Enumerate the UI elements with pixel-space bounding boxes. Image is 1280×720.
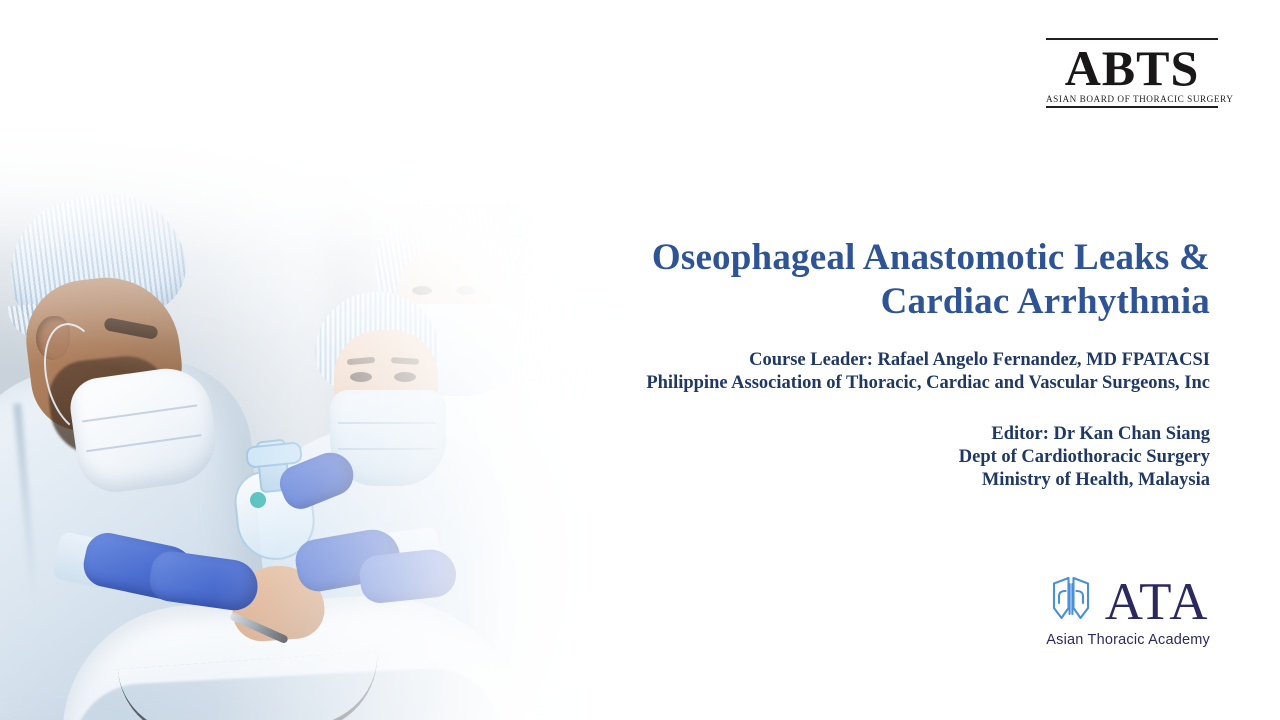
abts-logo: ABTS ASIAN BOARD OF THORACIC SURGERY [1046,38,1218,108]
page-title: Oseophageal Anastomotic Leaks & Cardiac … [562,236,1210,324]
surgeon-back-eye-right [456,286,476,295]
course-leader-affiliation: Philippine Association of Thoracic, Card… [562,372,1210,395]
abts-tagline: ASIAN BOARD OF THORACIC SURGERY [1046,93,1218,106]
nurse-eye-right [394,372,416,382]
course-leader-name: Course Leader: Rafael Angelo Fernandez, … [562,349,1210,372]
nurse-eye-left [350,372,372,382]
title-line-1: Oseophageal Anastomotic Leaks & [652,237,1210,278]
abts-rule-bottom [1046,106,1218,108]
editor-block: Editor: Dr Kan Chan Siang Dept of Cardio… [562,423,1210,492]
ata-wordmark: ATA [1105,575,1210,630]
anaesthesia-connector [250,492,266,508]
ata-logo-row: ATA [1047,574,1210,631]
title-slide: ABTS ASIAN BOARD OF THORACIC SURGERY Ose… [0,0,1280,720]
editor-department: Dept of Cardiothoracic Surgery [562,446,1210,469]
ata-logo: ATA Asian Thoracic Academy [1046,574,1210,648]
editor-organisation: Ministry of Health, Malaysia [562,469,1210,492]
abts-wordmark: ABTS [1046,43,1218,93]
title-line-2: Cardiac Arrhythmia [562,280,1210,324]
surgeon-back-eye-left [412,286,432,295]
title-text-block: Oseophageal Anastomotic Leaks & Cardiac … [562,236,1210,492]
ata-tagline: Asian Thoracic Academy [1046,632,1210,648]
lung-butterfly-icon [1047,574,1095,631]
course-leader-block: Course Leader: Rafael Angelo Fernandez, … [562,349,1210,395]
editor-name: Editor: Dr Kan Chan Siang [562,423,1210,446]
